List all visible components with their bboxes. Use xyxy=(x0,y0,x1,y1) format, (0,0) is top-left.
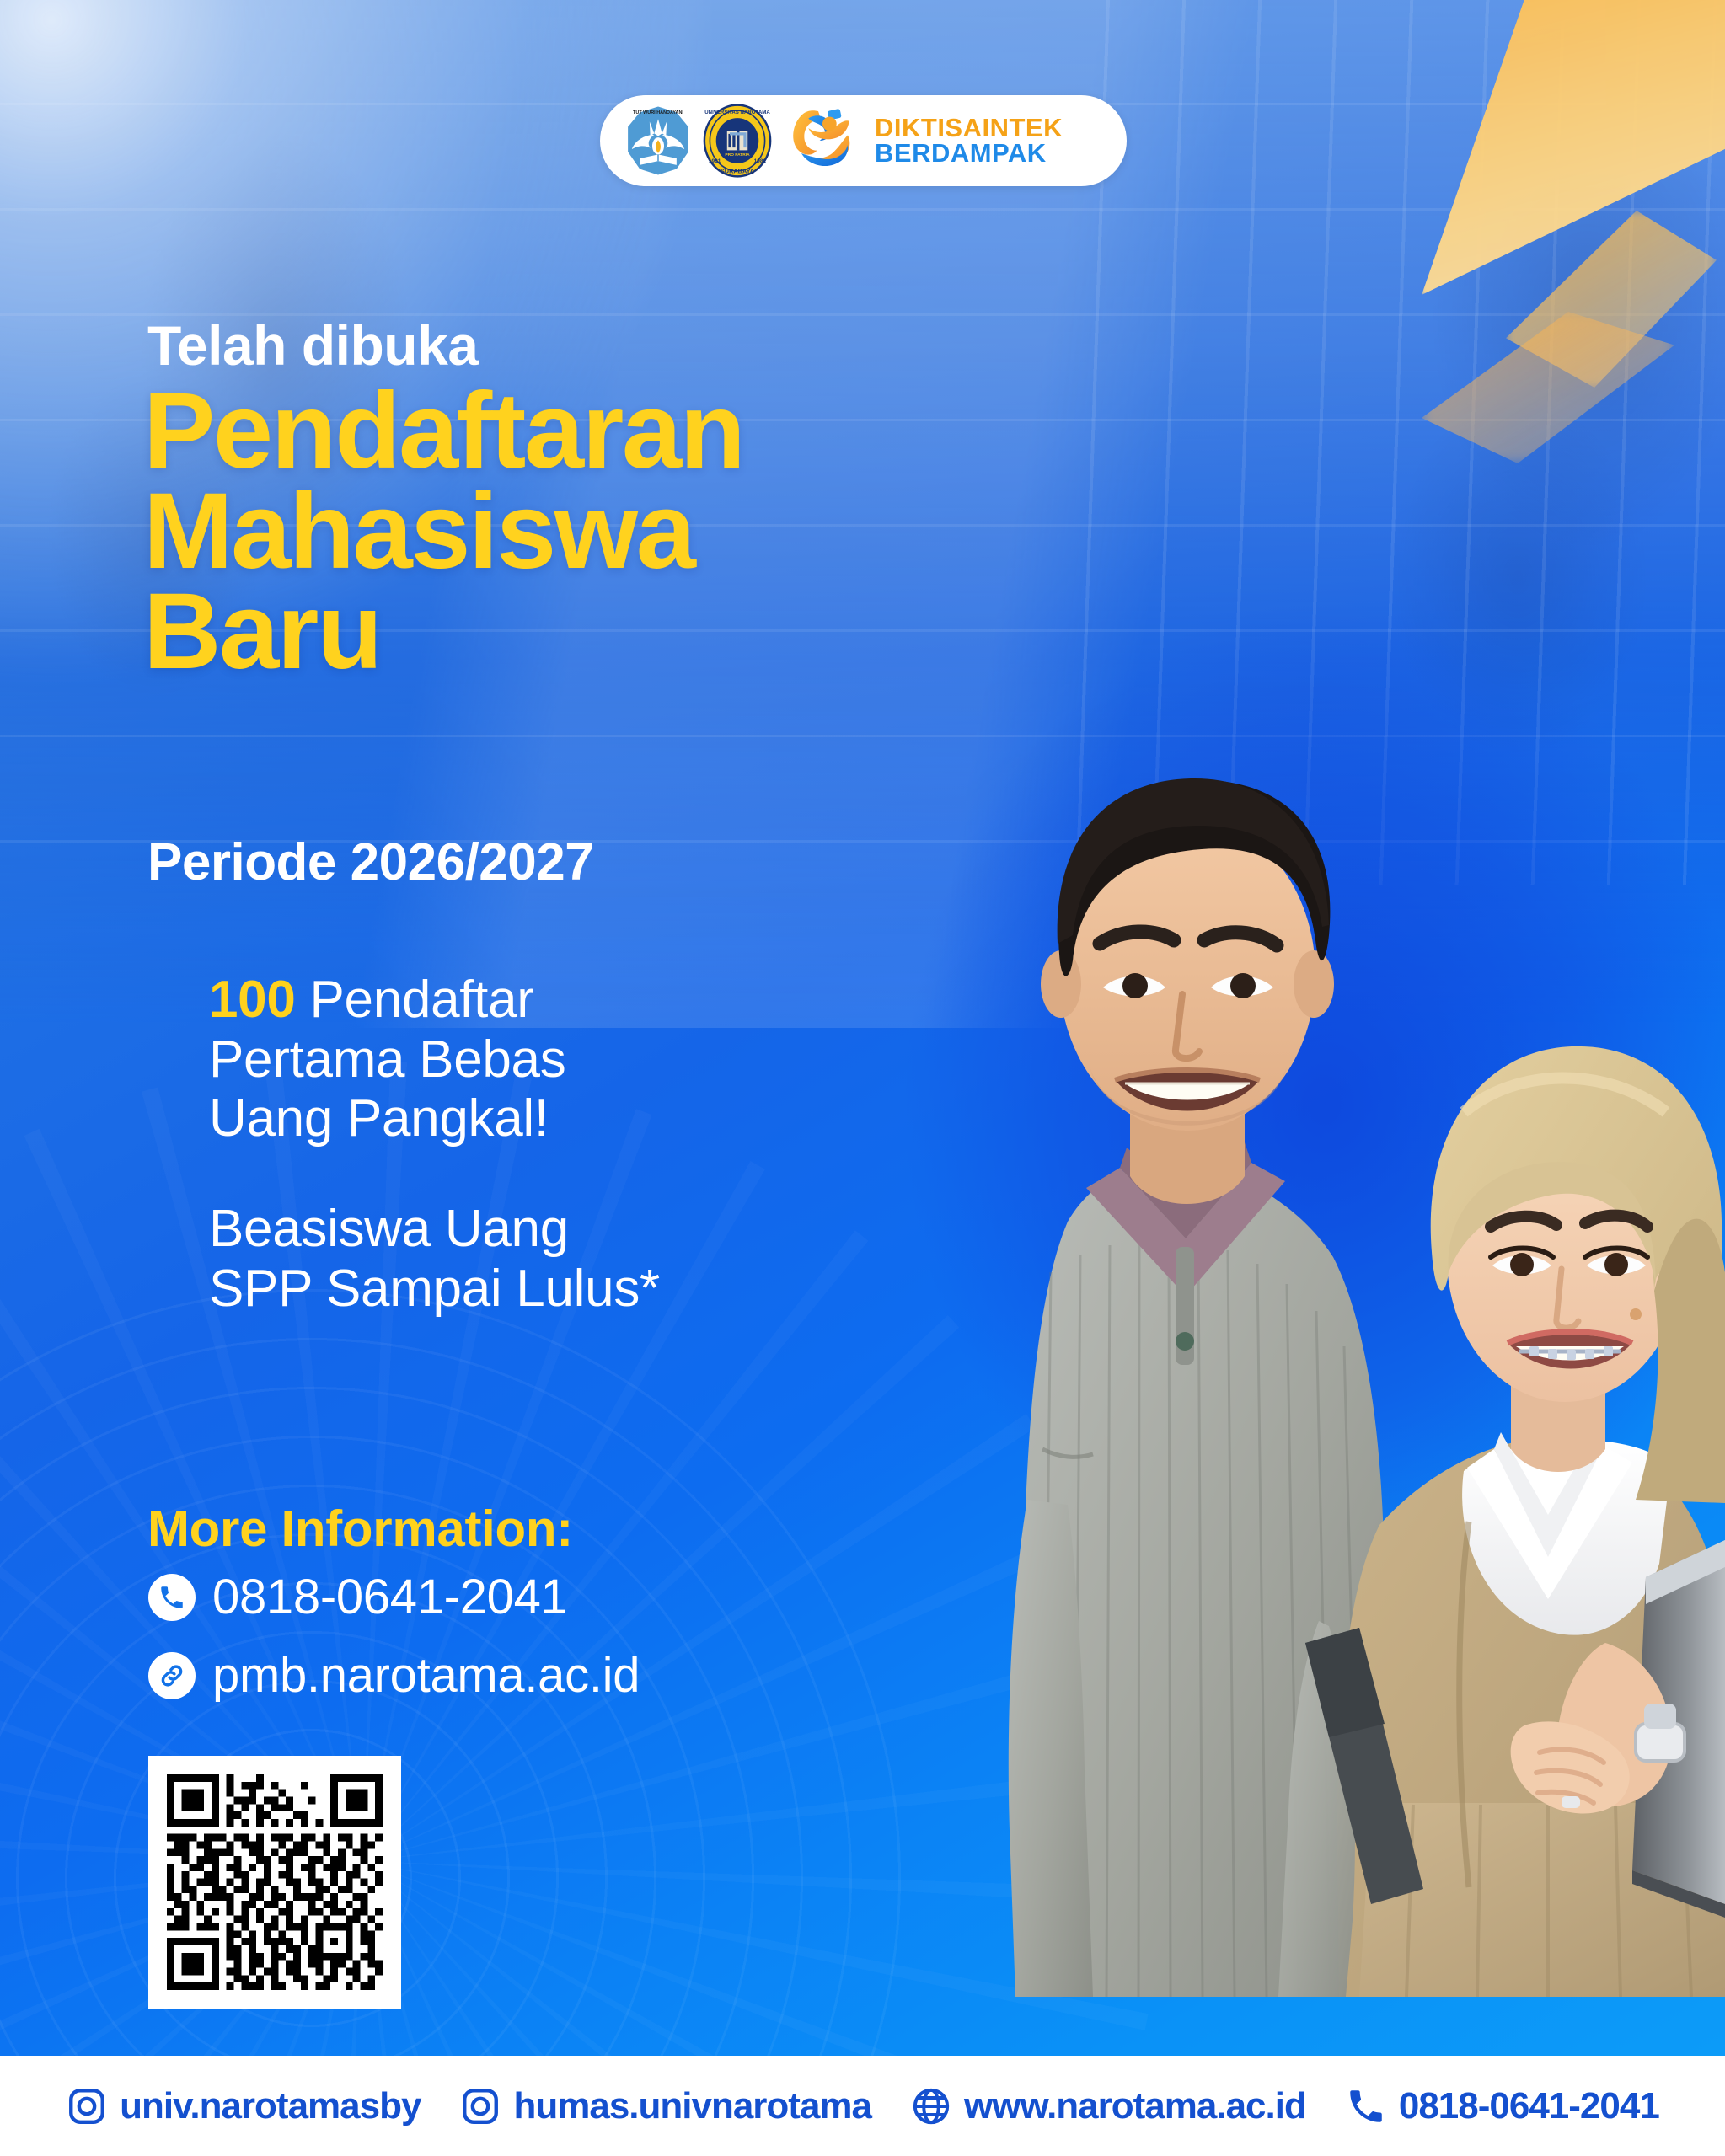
admission-poster: TUT WURI HANDAYANI PRO PATRIA UNIVERSITA… xyxy=(0,0,1725,2156)
offer-count: 100 xyxy=(209,971,296,1029)
footer-website-label: www.narotama.ac.id xyxy=(964,2085,1306,2127)
contact-website-text: pmb.narotama.ac.id xyxy=(212,1647,640,1704)
diktisaintek-mark-icon xyxy=(787,107,858,174)
more-information-heading: More Information: xyxy=(147,1500,573,1558)
offer-line-3: Uang Pangkal! xyxy=(209,1089,660,1149)
qr-code-image xyxy=(167,1774,383,1990)
headline-line-1: Pendaftaran xyxy=(143,381,743,481)
footer-instagram-2[interactable]: humas.univnarotama xyxy=(459,2085,871,2127)
students-photo xyxy=(790,573,1725,2056)
footer-phone[interactable]: 0818-0641-2041 xyxy=(1345,2085,1659,2127)
offer-line-4: Beasiswa Uang xyxy=(209,1200,660,1260)
qr-code[interactable] xyxy=(148,1756,401,2009)
contact-phone-row[interactable]: 0818-0641-2041 xyxy=(148,1569,568,1625)
contact-phone-text: 0818-0641-2041 xyxy=(212,1569,568,1625)
offer-line-2: Pertama Bebas xyxy=(209,1030,660,1090)
contact-website-row[interactable]: pmb.narotama.ac.id xyxy=(148,1647,640,1704)
svg-text:SURABAYA: SURABAYA xyxy=(721,167,755,174)
kicker-text: Telah dibuka xyxy=(147,313,479,377)
offer-line-1-rest: Pendaftar xyxy=(296,971,534,1029)
universitas-narotama-logo: PRO PATRIA UNIVERSITAS NAROTAMA SURABAYA… xyxy=(703,104,772,178)
footer-instagram-1[interactable]: univ.narotamasby xyxy=(66,2085,421,2127)
footer-website[interactable]: www.narotama.ac.id xyxy=(910,2085,1306,2127)
diktisaintek-line2: BERDAMPAK xyxy=(875,141,1063,166)
diktisaintek-line1: DIKTISAINTEK xyxy=(875,115,1063,141)
headline-line-2: Mahasiswa xyxy=(143,481,743,581)
svg-text:1981: 1981 xyxy=(709,158,721,164)
accreditation-logo-badge: TUT WURI HANDAYANI PRO PATRIA UNIVERSITA… xyxy=(600,95,1127,186)
footer-bar: univ.narotamasby humas.univnarotama www.… xyxy=(0,2056,1725,2156)
offer-spacer xyxy=(209,1149,660,1200)
footer-phone-label: 0818-0641-2041 xyxy=(1399,2085,1659,2127)
diktisaintek-wordmark: DIKTISAINTEK BERDAMPAK xyxy=(875,115,1063,166)
period-text: Periode 2026/2027 xyxy=(147,832,593,892)
globe-icon xyxy=(910,2085,952,2127)
headline-line-3: Baru xyxy=(143,581,743,682)
svg-text:UNIVERSITAS NAROTAMA: UNIVERSITAS NAROTAMA xyxy=(704,110,770,115)
phone-icon xyxy=(1345,2085,1387,2127)
offer-block: 100 Pendaftar Pertama Bebas Uang Pangkal… xyxy=(209,971,660,1319)
offer-line-5: SPP Sampai Lulus* xyxy=(209,1260,660,1319)
svg-text:PRO PATRIA: PRO PATRIA xyxy=(725,152,750,158)
offer-line-1: 100 Pendaftar xyxy=(209,971,660,1030)
svg-text:TUT WURI HANDAYANI: TUT WURI HANDAYANI xyxy=(633,110,683,115)
page-title: Pendaftaran Mahasiswa Baru xyxy=(143,381,743,682)
instagram-icon xyxy=(66,2085,108,2127)
footer-instagram-2-label: humas.univnarotama xyxy=(513,2085,871,2127)
footer-instagram-1-label: univ.narotamasby xyxy=(120,2085,421,2127)
phone-icon xyxy=(148,1574,196,1621)
tut-wuri-handayani-logo: TUT WURI HANDAYANI xyxy=(625,104,691,177)
link-icon xyxy=(148,1652,196,1699)
instagram-icon xyxy=(459,2085,501,2127)
svg-text:1981: 1981 xyxy=(754,158,767,164)
